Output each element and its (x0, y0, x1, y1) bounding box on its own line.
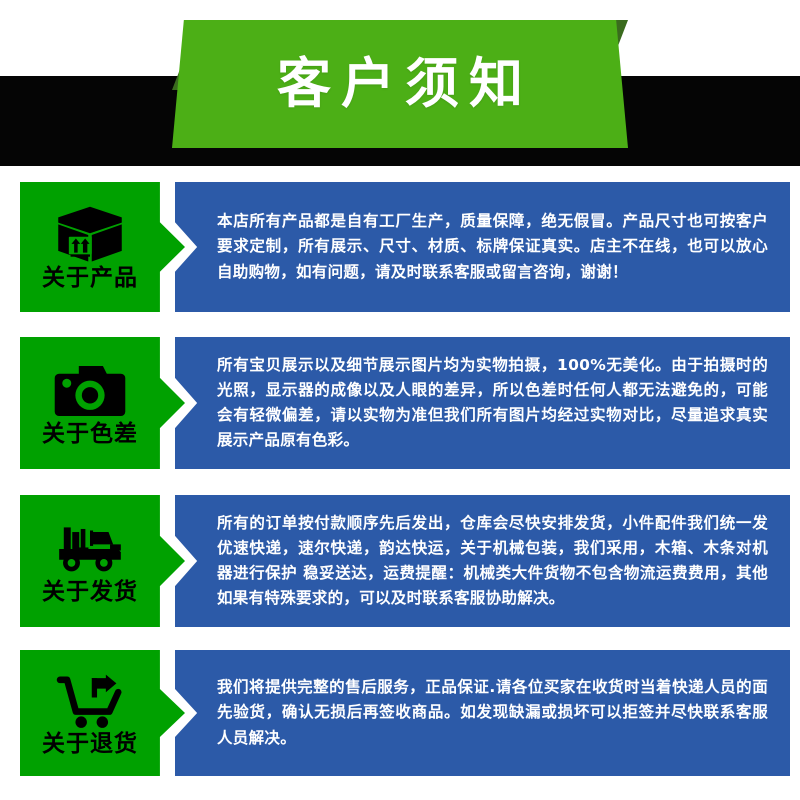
ribbon-banner: 客户须知 (172, 20, 628, 148)
notice-row-shipping: 关于发货 所有的订单按付款顺序先后发出，仓库会尽快安排发货，小件配件我们统一发优… (0, 483, 800, 638)
text-panel-shipping: 所有的订单按付款顺序先后发出，仓库会尽快安排发货，小件配件我们统一发优速快递，速… (175, 495, 790, 627)
notice-row-color: 关于色差 所有宝贝展示以及细节展示图片均为实物拍摄，100%无美化。由于拍摄时的… (0, 325, 800, 483)
label-block-shipping: 关于发货 (20, 495, 185, 627)
camera-icon (53, 361, 127, 421)
label-text-return: 关于退货 (42, 733, 138, 756)
label-text-product: 关于产品 (42, 267, 138, 290)
label-block-return: 关于退货 (20, 650, 185, 776)
notice-sections: 关于产品 本店所有产品都是自有工厂生产，质量保障，绝无假冒。产品尺寸也可按客户要… (0, 170, 800, 788)
panel-text-shipping: 所有的订单按付款顺序先后发出，仓库会尽快安排发货，小件配件我们统一发优速快递，速… (175, 511, 790, 611)
label-text-color: 关于色差 (42, 423, 138, 446)
header-banner: 客户须知 (0, 0, 800, 170)
return-cart-icon (53, 671, 127, 731)
panel-text-return: 我们将提供完整的售后服务，正品保证.请各位买家在收货时当着快递人员的面先验货，确… (175, 675, 790, 750)
notice-row-product: 关于产品 本店所有产品都是自有工厂生产，质量保障，绝无假冒。产品尺寸也可按客户要… (0, 170, 800, 325)
text-panel-product: 本店所有产品都是自有工厂生产，质量保障，绝无假冒。产品尺寸也可按客户要求定制，所… (175, 182, 790, 312)
text-panel-return: 我们将提供完整的售后服务，正品保证.请各位买家在收货时当着快递人员的面先验货，确… (175, 650, 790, 776)
forklift-truck-icon (53, 519, 127, 579)
package-box-icon (53, 205, 127, 265)
panel-text-color: 所有宝贝展示以及细节展示图片均为实物拍摄，100%无美化。由于拍摄时的光照，显示… (175, 353, 790, 453)
label-text-shipping: 关于发货 (42, 581, 138, 604)
panel-text-product: 本店所有产品都是自有工厂生产，质量保障，绝无假冒。产品尺寸也可按客户要求定制，所… (175, 209, 790, 284)
customer-notice-page: 客户须知 (0, 0, 800, 800)
notice-row-return: 关于退货 我们将提供完整的售后服务，正品保证.请各位买家在收货时当着快递人员的面… (0, 638, 800, 788)
label-block-product: 关于产品 (20, 182, 185, 312)
label-block-color: 关于色差 (20, 337, 185, 469)
text-panel-color: 所有宝贝展示以及细节展示图片均为实物拍摄，100%无美化。由于拍摄时的光照，显示… (175, 337, 790, 469)
page-title: 客户须知 (267, 57, 533, 111)
